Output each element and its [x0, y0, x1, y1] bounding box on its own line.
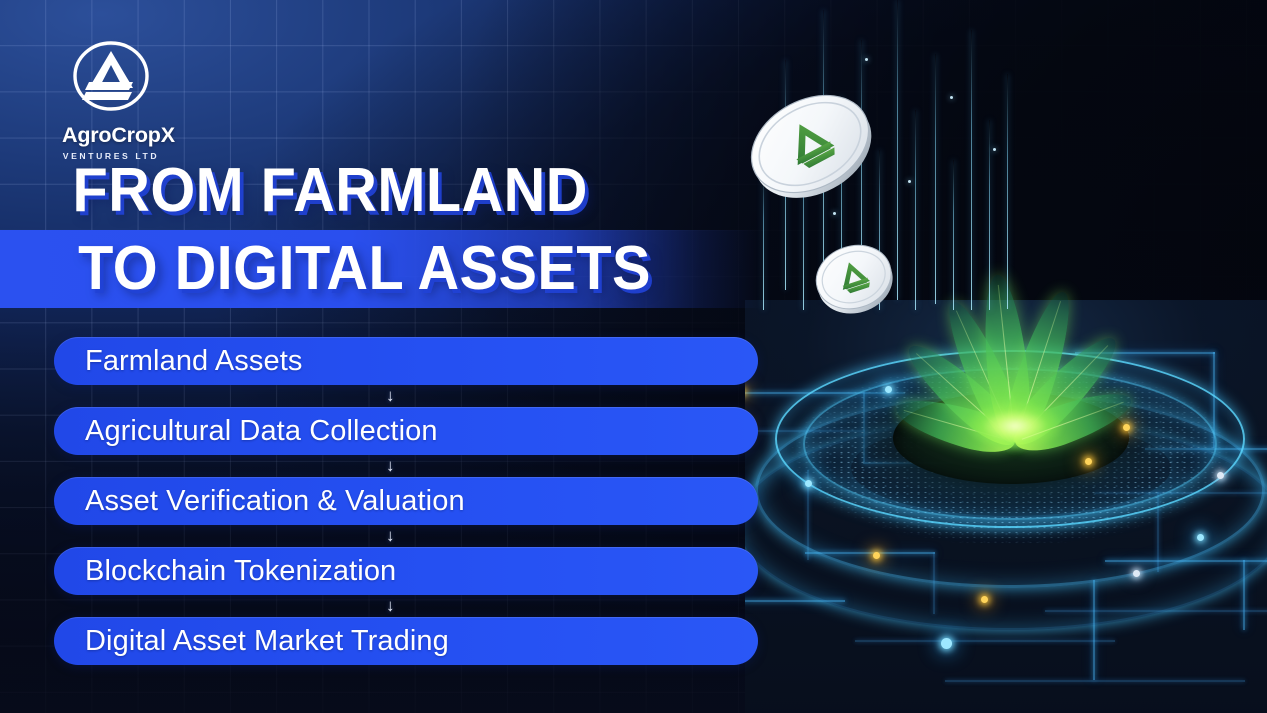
headline-row-1: FROM FARMLAND	[0, 152, 780, 230]
digital-agriculture-visual	[745, 0, 1267, 713]
flow-connector-3: ↓	[54, 525, 758, 547]
arrow-down-icon: ↓	[386, 525, 395, 547]
headline-row-2: TO DIGITAL ASSETS	[0, 230, 780, 308]
flow-step-asset-verification-valuation[interactable]: Asset Verification & Valuation	[54, 477, 758, 525]
flow-step-label: Farmland Assets	[54, 345, 302, 378]
headline-line-1: FROM FARMLAND	[0, 152, 725, 230]
flow-step-label: Blockchain Tokenization	[54, 555, 396, 588]
arrow-down-icon: ↓	[386, 385, 395, 407]
agrocropx-mountain-logo-icon	[69, 36, 153, 120]
flow-step-digital-asset-market-trading[interactable]: Digital Asset Market Trading	[54, 617, 758, 665]
flow-connector-4: ↓	[54, 595, 758, 617]
flow-step-farmland-assets[interactable]: Farmland Assets	[54, 337, 758, 385]
flow-step-label: Agricultural Data Collection	[54, 415, 438, 448]
arrow-down-icon: ↓	[386, 455, 395, 477]
flow-connector-1: ↓	[54, 385, 758, 407]
headline-line-2: TO DIGITAL ASSETS	[0, 230, 725, 308]
process-flow-list: Farmland Assets ↓ Agricultural Data Coll…	[54, 337, 758, 665]
brand-logo: AgroCropX VENTURES LTD	[62, 36, 160, 161]
arrow-down-icon: ↓	[386, 595, 395, 617]
agrocropx-token-coin-small-icon	[807, 232, 901, 324]
flow-connector-2: ↓	[54, 455, 758, 477]
brand-name: AgroCropX	[62, 123, 160, 148]
data-stream-lines	[745, 0, 1075, 440]
flow-step-label: Asset Verification & Valuation	[54, 485, 465, 518]
flow-step-label: Digital Asset Market Trading	[54, 625, 449, 658]
headline-block: FROM FARMLAND TO DIGITAL ASSETS	[0, 152, 780, 308]
poster-canvas: AgroCropX VENTURES LTD FROM FARMLAND TO …	[0, 0, 1267, 713]
flow-step-blockchain-tokenization[interactable]: Blockchain Tokenization	[54, 547, 758, 595]
flow-step-agricultural-data-collection[interactable]: Agricultural Data Collection	[54, 407, 758, 455]
